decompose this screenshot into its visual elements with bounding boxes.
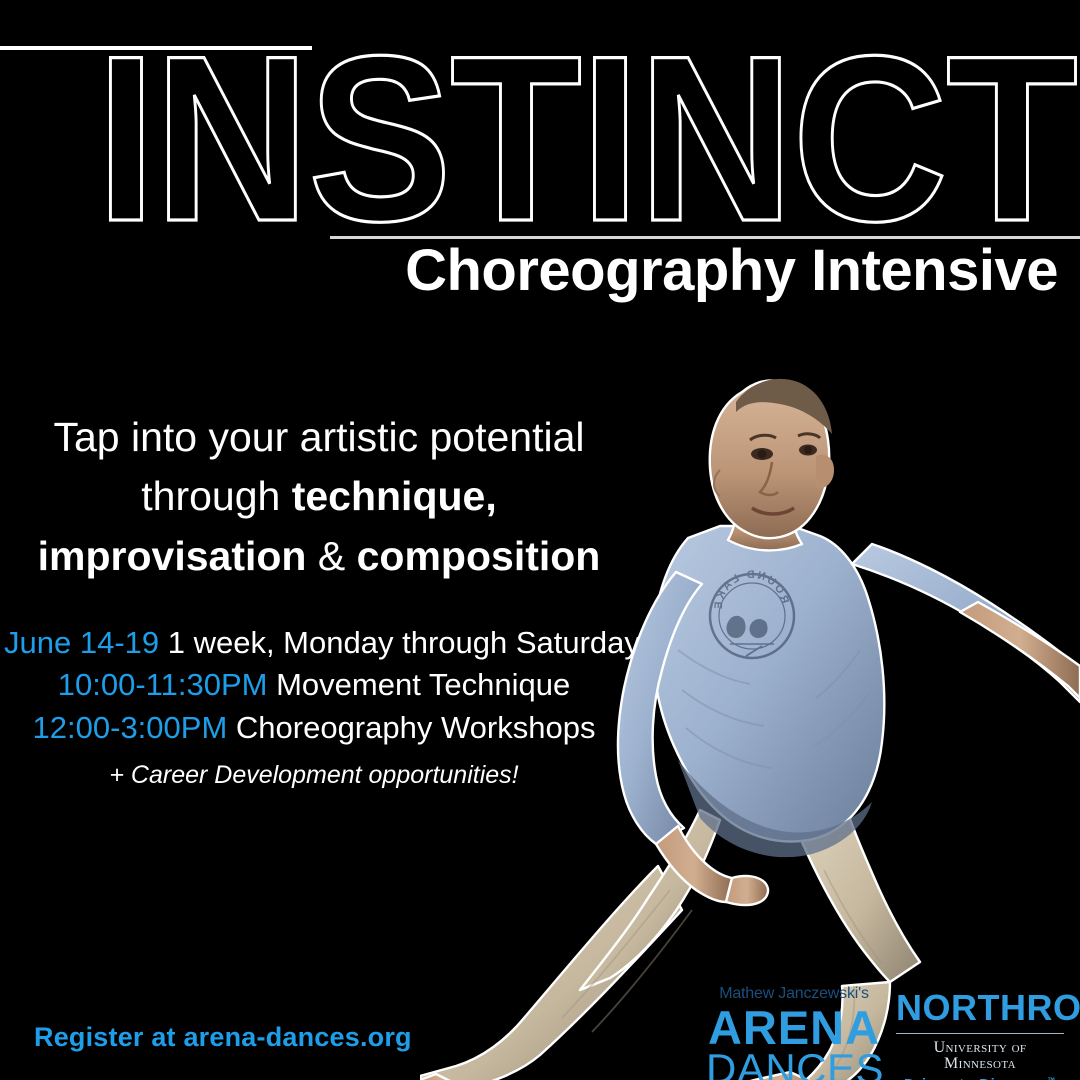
northrop-logo[interactable]: NORTHROP University of Minnesota Driven …: [896, 990, 1064, 1080]
tagline-block: Tap into your artistic potential through…: [14, 408, 624, 586]
schedule-row-afternoon: 12:00-3:00PM Choreography Workshops: [4, 707, 624, 749]
schedule-detail-dates: 1 week, Monday through Saturday: [159, 625, 640, 660]
schedule-row-morning: 10:00-11:30PM Movement Technique: [4, 664, 624, 706]
northrop-wordmark: NORTHROP: [896, 990, 1064, 1026]
schedule-row-dates: June 14-19 1 week, Monday through Saturd…: [4, 622, 624, 664]
trademark-symbol: ™: [1047, 1076, 1056, 1080]
northrop-university-label: University of Minnesota: [896, 1040, 1064, 1072]
schedule-block: June 14-19 1 week, Monday through Saturd…: [4, 622, 624, 790]
schedule-accent-afternoon: 12:00-3:00PM: [33, 710, 228, 745]
register-cta[interactable]: Register at arena-dances.org: [34, 1022, 412, 1053]
tagline-keyword-composition: composition: [357, 533, 601, 579]
arena-wordmark-second: DANCES: [706, 1048, 882, 1080]
schedule-accent-dates: June 14-19: [4, 625, 159, 660]
schedule-detail-morning: Movement Technique: [267, 667, 570, 702]
arena-dances-logo[interactable]: Mathew Janczewski's ARENA DANCES: [706, 986, 882, 1080]
tagline-line-3-plain: &: [306, 533, 356, 579]
tagline-line-2-plain: through: [141, 473, 291, 519]
poster-canvas: ROUND LAKE: [0, 0, 1080, 1080]
schedule-accent-morning: 10:00-11:30PM: [58, 667, 268, 702]
title-outline-svg: INSTINCT: [0, 42, 1080, 242]
northrop-tagline-text: Driven to Discover: [904, 1076, 1047, 1080]
tagline-keyword-improvisation: improvisation: [38, 533, 307, 579]
arena-wordmark: ARENA: [706, 1004, 882, 1051]
tagline-line-1: Tap into your artistic potential: [14, 408, 624, 467]
title-text: INSTINCT: [96, 42, 1076, 242]
schedule-extra-note: + Career Development opportunities!: [4, 761, 624, 790]
poster-title: INSTINCT: [0, 42, 1080, 242]
arena-presenter-label: Mathew Janczewski's: [706, 986, 882, 1002]
tagline-line-3: improvisation & composition: [14, 527, 624, 586]
schedule-detail-afternoon: Choreography Workshops: [227, 710, 595, 745]
tagline-line-2: through technique,: [14, 467, 624, 526]
tagline-keyword-technique: technique,: [292, 473, 497, 519]
poster-subtitle: Choreography Intensive: [405, 240, 1058, 303]
northrop-divider: [896, 1033, 1064, 1034]
